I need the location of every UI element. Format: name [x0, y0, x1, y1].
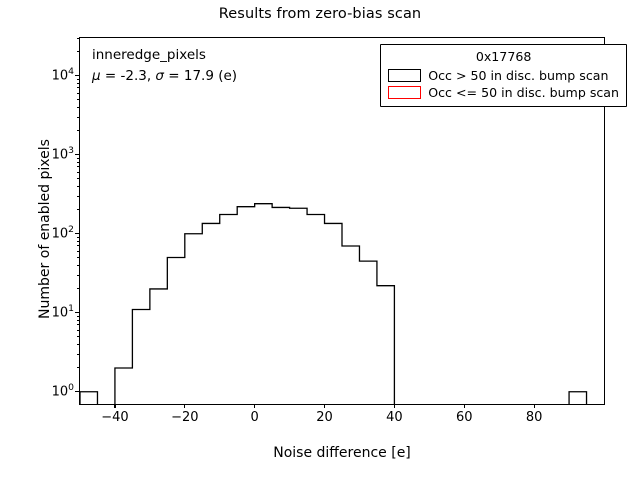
y-minor-tick [77, 117, 80, 118]
y-minor-tick [77, 257, 80, 258]
y-minor-tick [77, 178, 80, 179]
x-tick-label-0: −40 [101, 410, 128, 425]
legend-swatch-red [388, 86, 421, 99]
y-major-tick-1 [75, 312, 79, 313]
y-minor-tick [77, 209, 80, 210]
x-tick-label-5: 60 [456, 410, 473, 425]
x-tick-label-3: 20 [316, 410, 333, 425]
y-minor-tick [77, 367, 80, 368]
chart-figure: Results from zero-bias scan Number of en… [0, 0, 640, 480]
y-minor-tick [77, 51, 80, 52]
mu-value: = -2.3, [101, 68, 156, 84]
y-minor-tick [77, 87, 80, 88]
y-tick-label-1: 101 [52, 305, 74, 320]
y-minor-tick [77, 79, 80, 80]
x-major-tick-6 [534, 404, 535, 408]
annotation-stats: μ = -2.3, σ = 17.9 (e) [92, 66, 237, 87]
legend: 0x17768 Occ > 50 in disc. bump scan Occ … [380, 44, 627, 107]
y-minor-tick [77, 93, 80, 94]
sigma-value: = 17.9 (e) [164, 68, 237, 84]
y-minor-tick [77, 241, 80, 242]
legend-entry-0[interactable]: Occ > 50 in disc. bump scan [388, 67, 619, 84]
y-minor-tick [77, 172, 80, 173]
histogram-step-series [80, 204, 587, 404]
y-minor-tick [77, 288, 80, 289]
legend-label-0: Occ > 50 in disc. bump scan [428, 68, 608, 83]
x-tick-label-2: 0 [251, 410, 259, 425]
y-minor-tick [77, 196, 80, 197]
y-tick-label-0: 100 [52, 384, 74, 399]
y-major-tick-0 [75, 391, 79, 392]
y-minor-tick [77, 166, 80, 167]
legend-entry-1[interactable]: Occ <= 50 in disc. bump scan [388, 84, 619, 101]
x-axis-label: Noise difference [e] [79, 445, 605, 461]
y-axis-tick-labels: 100101102103104 [0, 0, 74, 480]
sigma-symbol: σ [155, 68, 164, 84]
y-tick-label-2: 102 [52, 226, 74, 241]
y-major-tick-2 [75, 233, 79, 234]
legend-label-1: Occ <= 50 in disc. bump scan [428, 85, 619, 100]
x-major-tick-1 [184, 404, 185, 408]
x-major-tick-4 [394, 404, 395, 408]
y-minor-tick [77, 245, 80, 246]
mu-symbol: μ [92, 68, 101, 84]
x-tick-label-6: 80 [526, 410, 543, 425]
y-minor-tick [77, 38, 80, 39]
y-minor-tick [77, 162, 80, 163]
legend-title: 0x17768 [388, 48, 619, 67]
legend-swatch-black [388, 69, 421, 82]
y-minor-tick [77, 83, 80, 84]
y-minor-tick [77, 158, 80, 159]
histogram-step-line [80, 204, 587, 404]
chart-title: Results from zero-bias scan [0, 6, 640, 22]
y-minor-tick [77, 130, 80, 131]
y-major-tick-3 [75, 154, 79, 155]
x-major-tick-5 [464, 404, 465, 408]
x-major-tick-0 [114, 404, 115, 408]
y-minor-tick [77, 344, 80, 345]
annotation-block: inneredge_pixels μ = -2.3, σ = 17.9 (e) [92, 45, 237, 87]
y-minor-tick [77, 316, 80, 317]
y-minor-tick [77, 320, 80, 321]
y-minor-tick [77, 251, 80, 252]
x-tick-label-1: −20 [171, 410, 198, 425]
y-minor-tick [77, 275, 80, 276]
y-minor-tick [77, 324, 80, 325]
y-minor-tick [77, 336, 80, 337]
y-minor-tick [77, 354, 80, 355]
y-tick-label-4: 104 [52, 68, 74, 83]
y-minor-tick [77, 265, 80, 266]
annotation-dataset-name: inneredge_pixels [92, 45, 237, 66]
y-minor-tick [77, 99, 80, 100]
x-tick-label-4: 40 [386, 410, 403, 425]
x-major-tick-3 [324, 404, 325, 408]
y-minor-tick [77, 330, 80, 331]
y-minor-tick [77, 107, 80, 108]
y-tick-label-3: 103 [52, 147, 74, 162]
y-major-tick-4 [75, 75, 79, 76]
y-minor-tick [77, 186, 80, 187]
y-minor-tick [77, 237, 80, 238]
x-major-tick-2 [254, 404, 255, 408]
